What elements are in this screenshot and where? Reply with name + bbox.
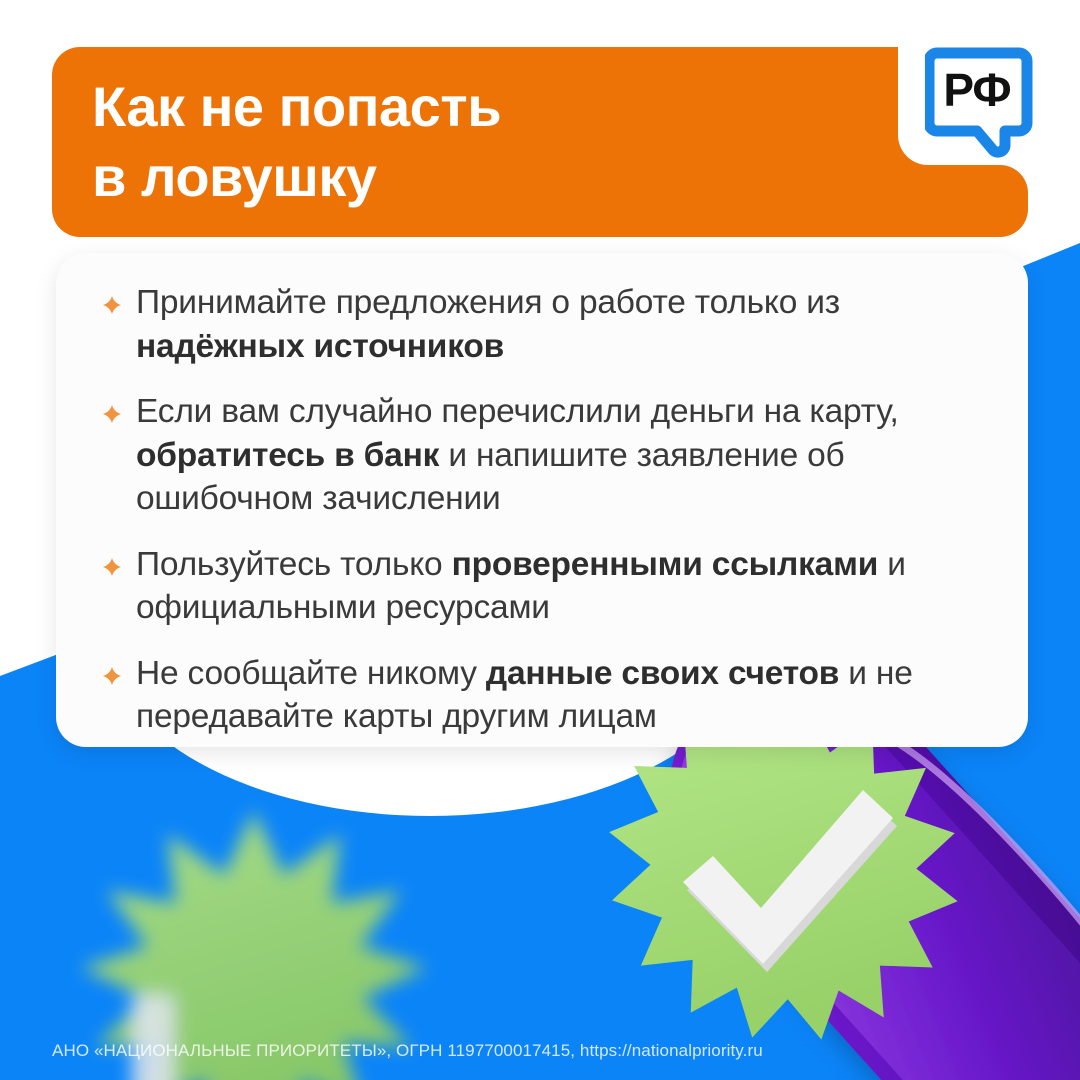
diamond-bullet-icon xyxy=(102,390,136,424)
list-item-plain: Пользуйтесь только xyxy=(136,546,452,583)
list-item-emphasis: проверенными ссылками xyxy=(452,546,879,583)
diamond-bullet-icon xyxy=(102,543,136,577)
infographic-poster: Как не попасть в ловушку РФ Принимайте п… xyxy=(0,0,1080,1080)
footer-legal-text: АНО «НАЦИОНАЛЬНЫЕ ПРИОРИТЕТЫ», ОГРН 1197… xyxy=(52,1041,1032,1061)
page-title: Как не попасть в ловушку xyxy=(92,72,872,212)
list-item: Не сообщайте никому данные своих счетов … xyxy=(102,652,1002,739)
advice-list: Принимайте предложения о работе только и… xyxy=(102,281,1002,739)
list-item-text: Не сообщайте никому данные своих счетов … xyxy=(136,652,1002,739)
list-item-emphasis: обратитесь в банк xyxy=(136,437,439,474)
list-item-plain: Не сообщайте никому xyxy=(136,655,486,692)
list-item-text: Если вам случайно перечислили деньги на … xyxy=(136,390,1002,521)
list-item: Пользуйтесь только проверенными ссылками… xyxy=(102,543,1002,630)
list-item-text: Пользуйтесь только проверенными ссылками… xyxy=(136,543,1002,630)
list-item-emphasis: данные своих счетов xyxy=(486,655,839,692)
list-item-plain: Если вам случайно перечислили деньги на … xyxy=(136,393,899,430)
list-item-text: Принимайте предложения о работе только и… xyxy=(136,281,1002,368)
header-banner: Как не попасть в ловушку xyxy=(52,47,1028,237)
list-item-plain: Принимайте предложения о работе только и… xyxy=(136,284,840,321)
list-item: Если вам случайно перечислили деньги на … xyxy=(102,390,1002,521)
diamond-bullet-icon xyxy=(102,281,136,315)
list-item: Принимайте предложения о работе только и… xyxy=(102,281,1002,368)
rf-logo-label: РФ xyxy=(925,63,1029,117)
list-item-emphasis: надёжных источников xyxy=(136,328,504,365)
diamond-bullet-icon xyxy=(102,652,136,686)
advice-card: Принимайте предложения о работе только и… xyxy=(56,253,1028,747)
rf-logo: РФ xyxy=(925,45,1035,160)
